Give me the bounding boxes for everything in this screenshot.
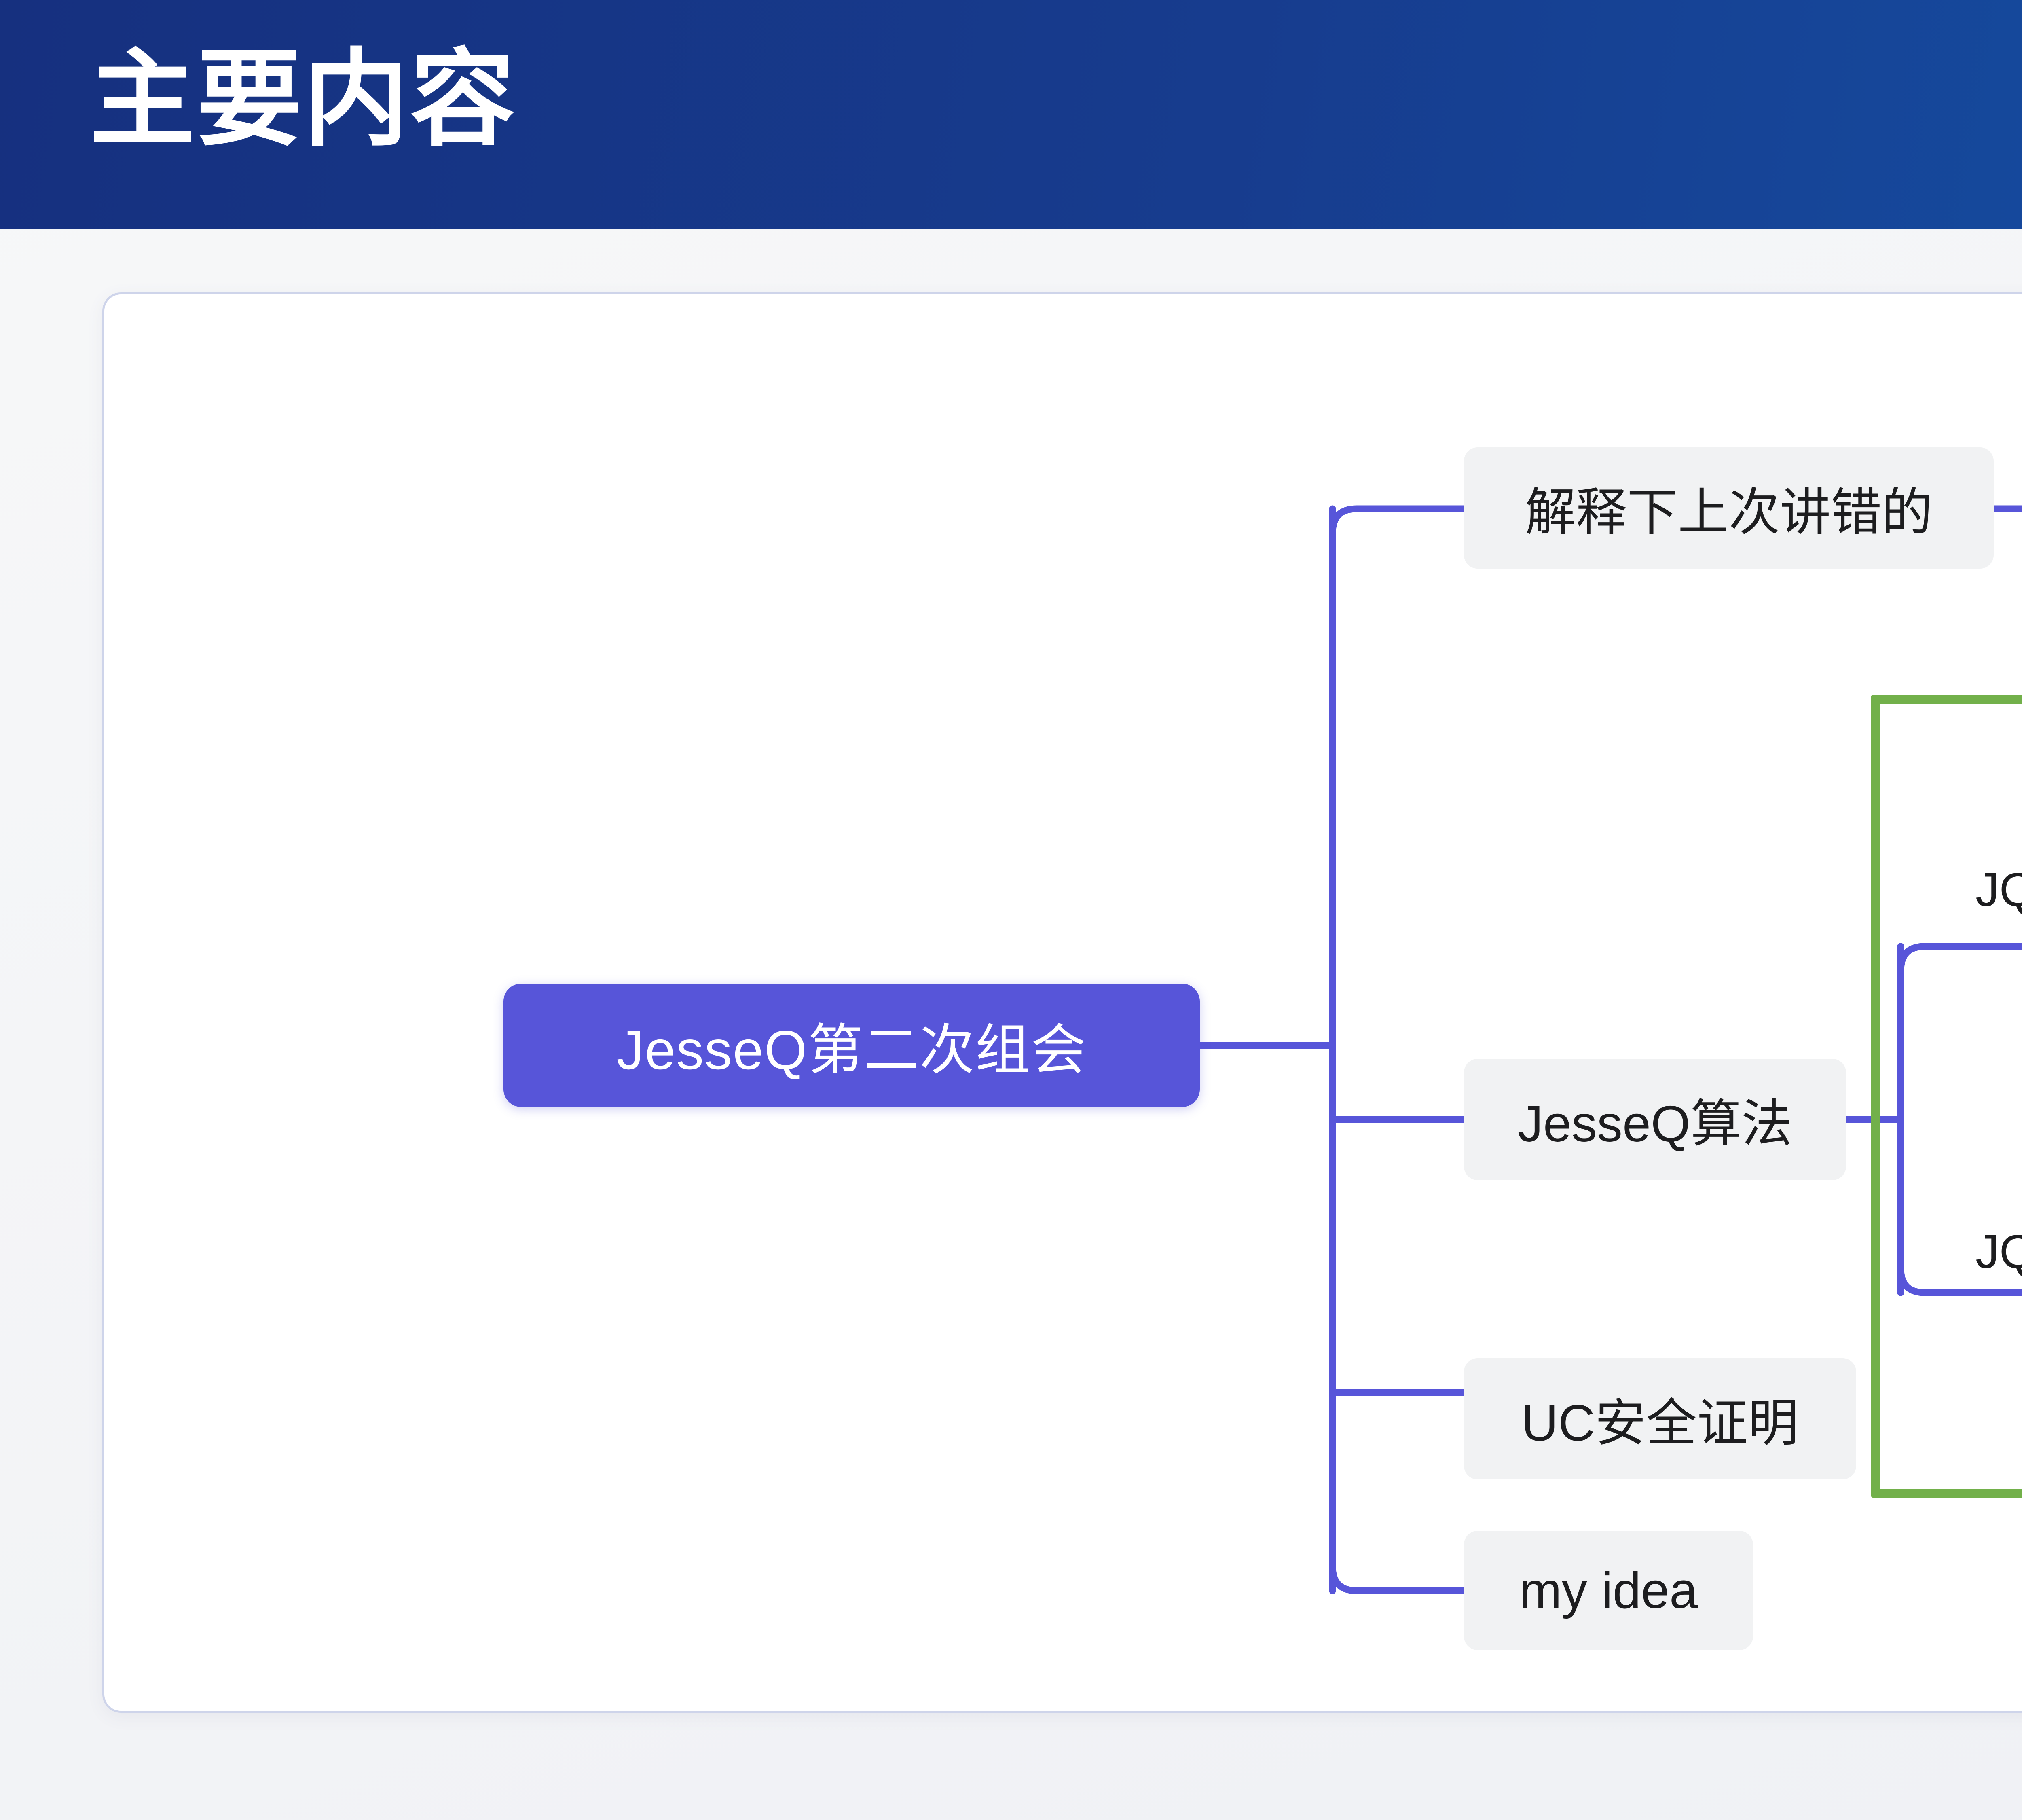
mindmap-branch-label-2: JesseQ算法 (1518, 1083, 1792, 1156)
green-highlight-frame (1871, 695, 2022, 1498)
mindmap-branch-label-4: my idea (1519, 1561, 1698, 1620)
mindmap-branch-label-3: UC安全证明 (1521, 1382, 1799, 1456)
mindmap-sub-node-jqv2[interactable]: JQv2 (1975, 1217, 2022, 1286)
mindmap-branch-node-4[interactable]: my idea (1464, 1531, 1753, 1650)
slide-header-bar: 主要内容 (0, 0, 2022, 229)
page-title: 主要内容 (90, 39, 517, 160)
mindmap-sub-label-jqv1: JQv1 (1975, 862, 2022, 917)
mindmap-branch-label-1: 解释下上次讲错的 (1525, 471, 1933, 545)
mindmap-sub-node-jqv1[interactable]: JQv1 (1975, 855, 2022, 924)
mindmap-root-label: JesseQ第二次组会 (616, 1005, 1087, 1085)
mindmap-branch-node-2[interactable]: JesseQ算法 (1464, 1059, 1846, 1180)
mindmap-root-node[interactable]: JesseQ第二次组会 (503, 984, 1200, 1107)
slide-page: 主要内容 (0, 0, 2022, 1820)
mindmap-branch-node-1[interactable]: 解释下上次讲错的 (1464, 447, 1994, 569)
mindmap-sub-label-jqv2: JQv2 (1975, 1224, 2022, 1279)
mindmap-branch-node-3[interactable]: UC安全证明 (1464, 1358, 1856, 1479)
